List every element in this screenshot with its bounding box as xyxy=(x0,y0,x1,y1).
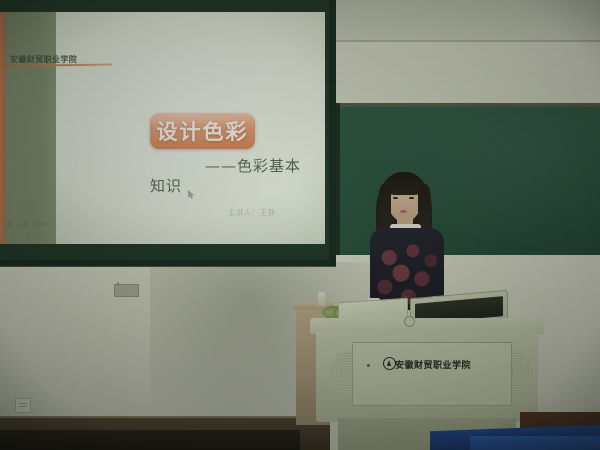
slide-subtitle-line1: ——色彩基本 xyxy=(205,155,301,176)
classroom-photo: 安徽财贸职业学院 设计色彩 ——色彩基本 知识 主讲人：王静 xyxy=(0,0,600,450)
bottle xyxy=(318,292,325,306)
upper-wall-shadow-band xyxy=(330,0,600,42)
slide-top-band-light xyxy=(56,12,325,52)
foreground-dark-ledge xyxy=(0,430,300,450)
slide-decoration-marks xyxy=(6,220,50,228)
slide-title: 设计色彩 xyxy=(150,113,255,149)
power-outlet-icon xyxy=(15,398,31,413)
wall-plate-icon xyxy=(114,284,139,297)
presenter-mouth xyxy=(400,210,407,213)
presenter-eye-left xyxy=(393,197,398,199)
slide-accent-rule xyxy=(2,63,112,67)
projected-slide: 安徽财贸职业学院 设计色彩 ——色彩基本 知识 主讲人：王静 xyxy=(0,12,325,244)
ceiling-trim-line xyxy=(330,40,600,42)
projection-screen-inner-frame: 安徽财贸职业学院 设计色彩 ——色彩基本 知识 主讲人：王静 xyxy=(0,0,329,260)
mouse-cursor-icon xyxy=(188,190,195,199)
podium-front-panel xyxy=(352,342,512,406)
presenter-hair-right xyxy=(418,184,431,228)
podium-institution-text: 安徽财贸职业学院 xyxy=(395,358,471,371)
presenter-eye-right xyxy=(409,197,414,199)
slide-presenter-credit: 主讲人：王静 xyxy=(228,208,276,218)
slide-title-pill: 设计色彩 xyxy=(150,113,255,149)
slide-sidebar xyxy=(0,12,56,244)
podium-indicator-dot xyxy=(367,364,370,367)
slide-subtitle-line2: 知识 xyxy=(150,175,182,196)
chalkboard-top-frame xyxy=(338,103,600,107)
podium-latch-icon xyxy=(404,316,415,327)
projection-screen-frame: 安徽财贸职业学院 设计色彩 ——色彩基本 知识 主讲人：王静 xyxy=(0,0,336,266)
slide-accent-stripe xyxy=(0,12,6,244)
blue-bench-seat xyxy=(470,436,600,450)
chalkboard-left-edge xyxy=(336,103,340,268)
